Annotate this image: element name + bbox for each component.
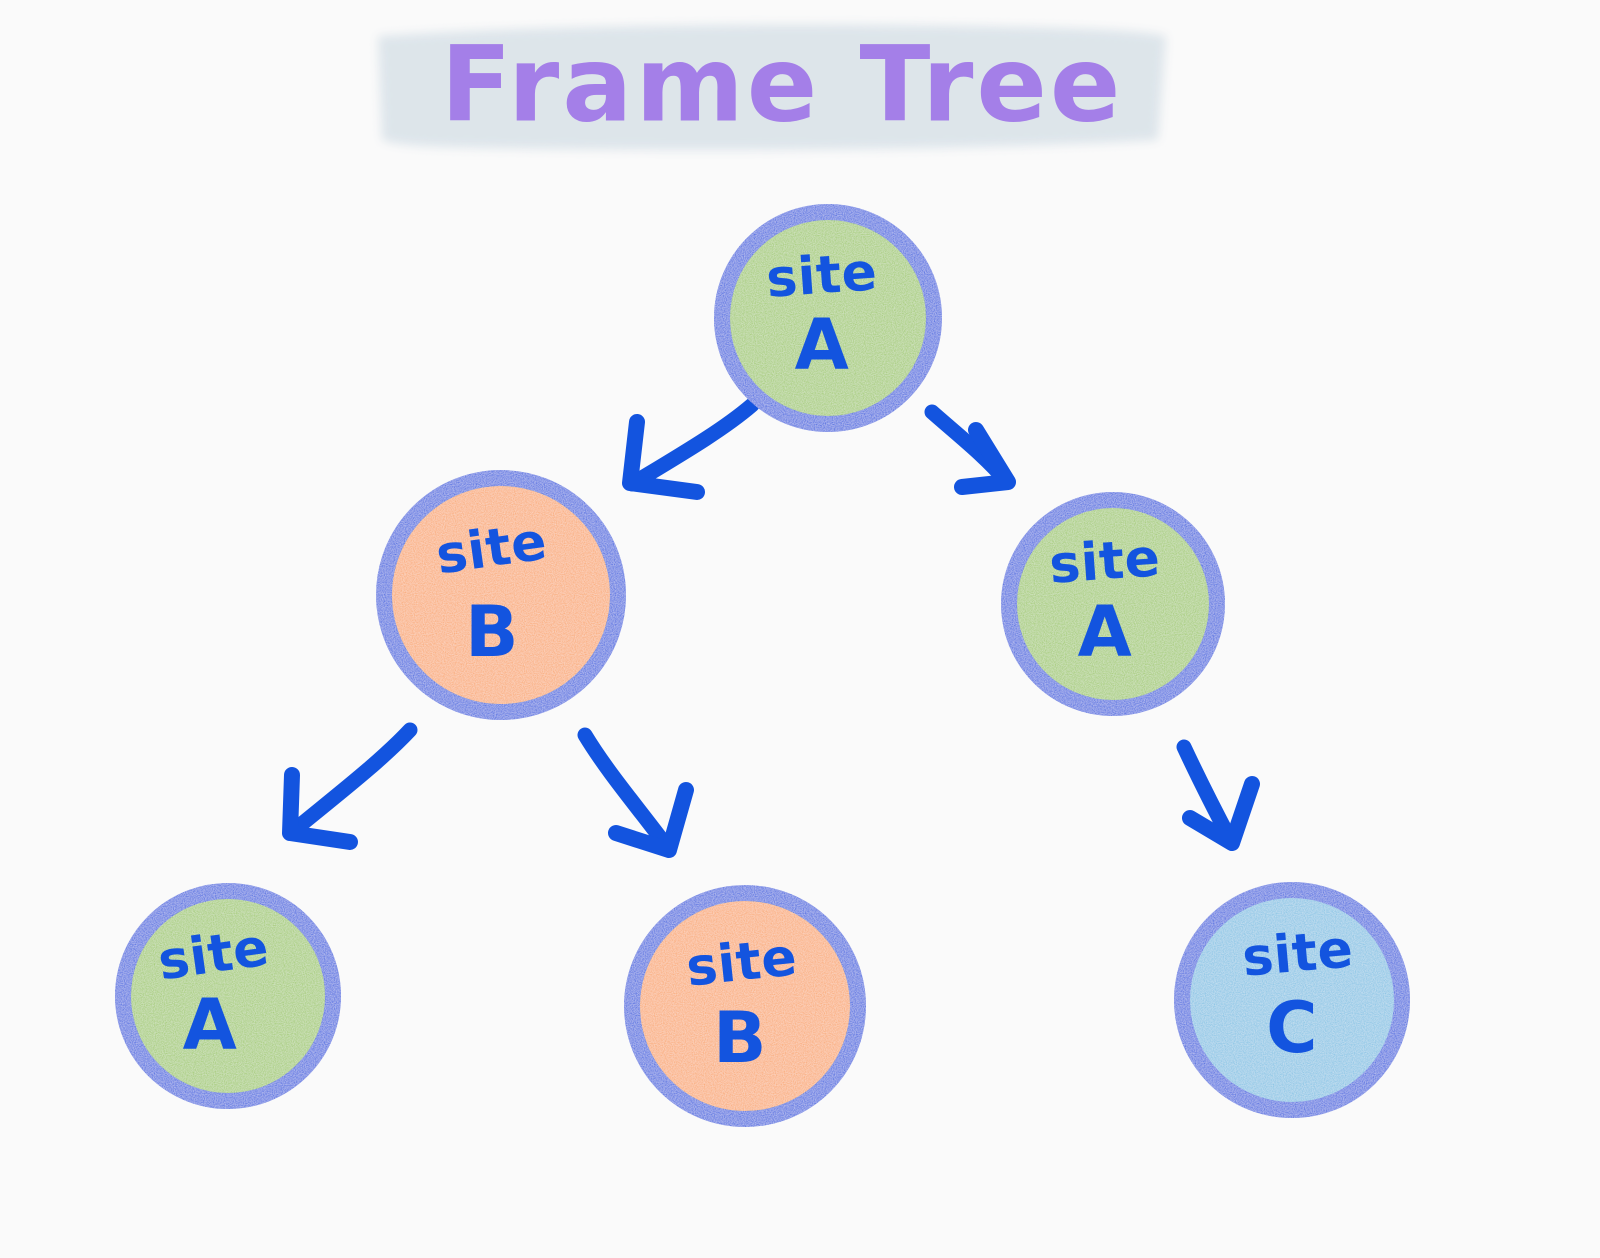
node-label-top: site [1240,919,1356,988]
node-label-bottom: A [183,984,238,1066]
node-label-bottom: A [795,304,850,386]
edge-root-to-child-a-right [932,412,1008,487]
node-leaf-site-a[interactable]: site A [123,891,333,1101]
node-leaf-site-b[interactable]: site B [632,893,858,1119]
title-group: Frame Tree [378,23,1166,150]
node-label-bottom: A [1078,591,1133,673]
page-title: Frame Tree [441,23,1124,145]
edge-child-b-to-leaf-b [585,735,686,850]
node-label-top: site [764,242,879,310]
node-label-top: site [1047,528,1162,596]
diagram-canvas: Frame Tree [0,0,1600,1258]
node-label-bottom: B [713,997,767,1079]
node-leaf-site-c[interactable]: site C [1182,890,1402,1110]
node-root-site-a[interactable]: site A [722,212,934,424]
node-label-bottom: C [1266,987,1318,1069]
edge-child-b-to-leaf-a [290,730,410,842]
node-label-bottom: B [465,591,519,673]
frame-tree-diagram: Frame Tree [0,0,1600,1258]
edge-root-to-child-b [630,405,752,492]
node-child-site-a-right[interactable]: site A [1009,500,1217,708]
node-label-top: site [683,927,800,998]
edge-child-a-right-to-leaf-c [1184,747,1252,843]
node-child-site-b[interactable]: site B [384,478,618,712]
